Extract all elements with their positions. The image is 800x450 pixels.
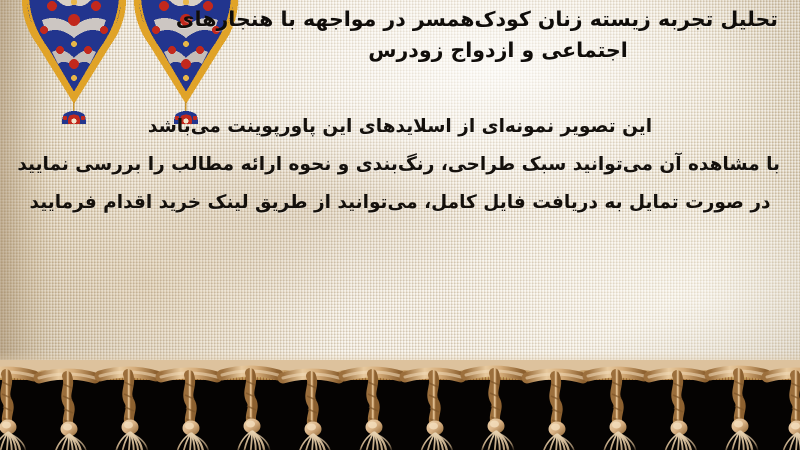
body-line-1: این تصویر نمونه‌ای از اسلایدهای این پاور…: [20, 108, 780, 146]
fringe-tassels: [0, 360, 800, 450]
title-line-2: اجتماعی و ازدواج زودرس: [218, 35, 778, 66]
body-line-3: در صورت تمایل به دریافت فایل کامل، می‌تو…: [20, 184, 780, 222]
carpet-fringe: [0, 360, 800, 450]
body-line-2: با مشاهده آن می‌توانید سبک طراحی، رنگ‌بن…: [20, 146, 780, 184]
title-line-1: تحلیل تجربه زیسته زنان کودک‌همسر در مواج…: [218, 4, 778, 35]
slide-title: تحلیل تجربه زیسته زنان کودک‌همسر در مواج…: [218, 4, 778, 66]
slide-body: این تصویر نمونه‌ای از اسلایدهای این پاور…: [20, 108, 780, 222]
slide-canvas: تحلیل تجربه زیسته زنان کودک‌همسر در مواج…: [0, 0, 800, 450]
